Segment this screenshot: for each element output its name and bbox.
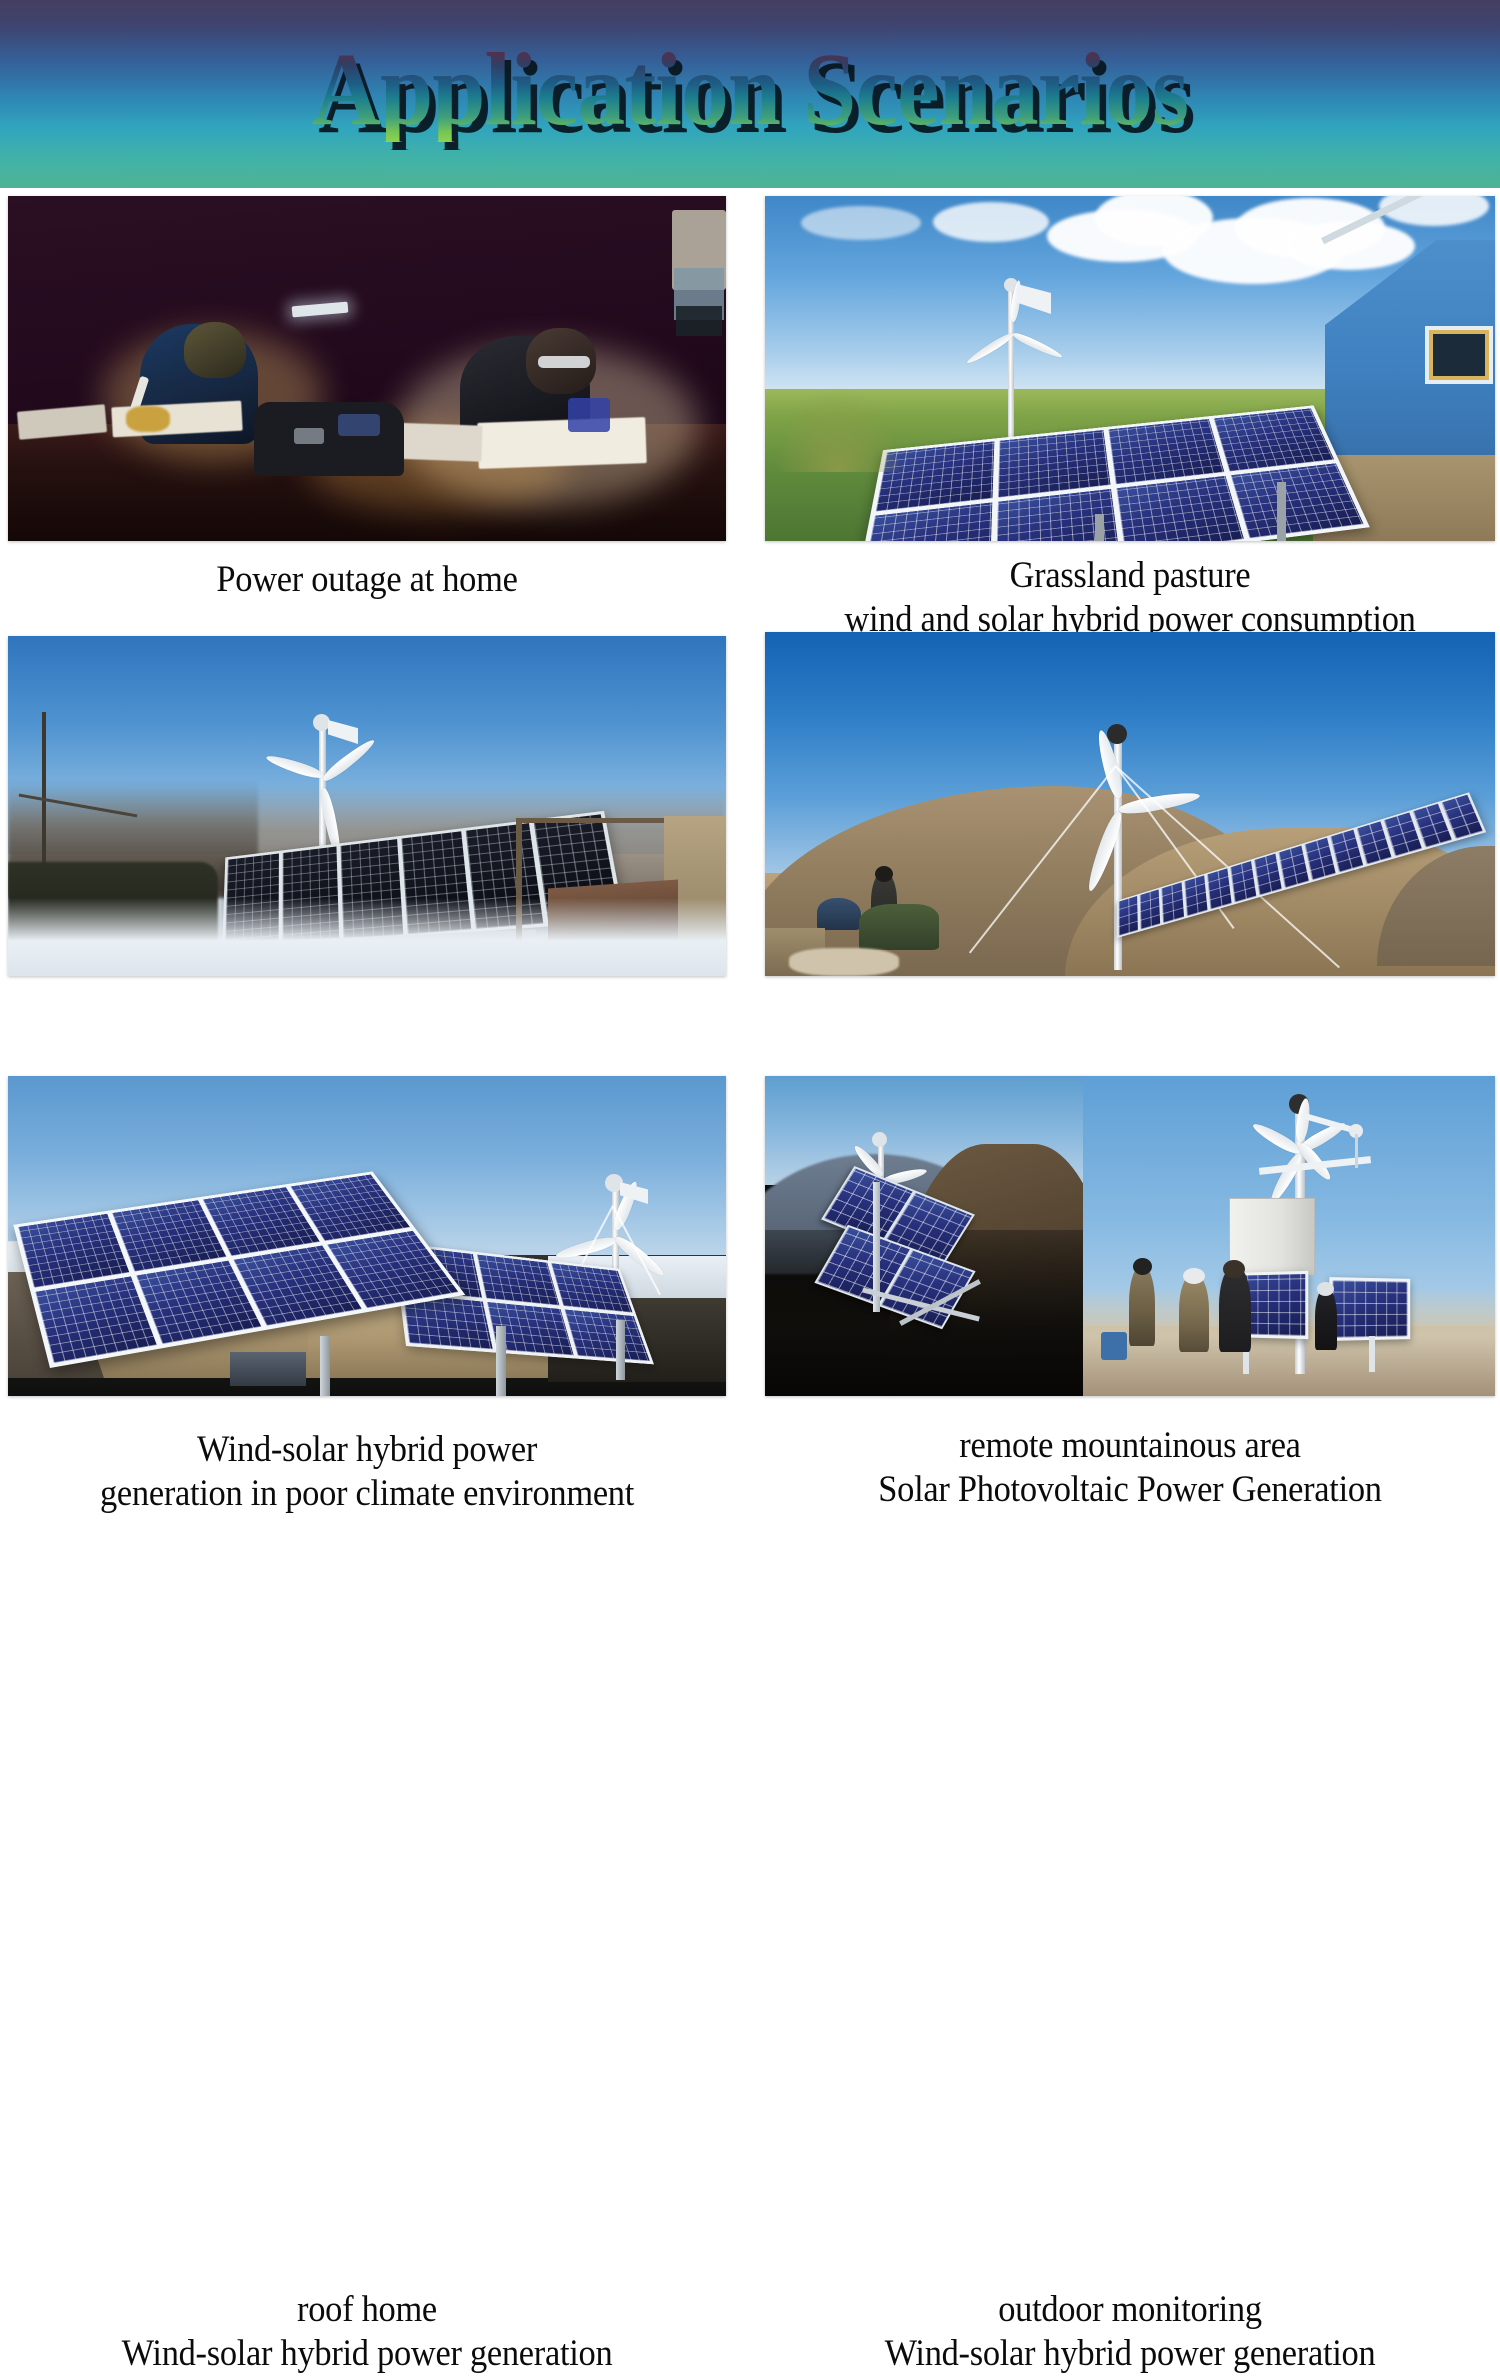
white-sack <box>789 948 899 976</box>
caption-power-outage: Power outage at home <box>33 558 701 602</box>
sensor-stem <box>1355 1134 1358 1168</box>
snow-foreground <box>8 898 726 976</box>
solar-module <box>1279 846 1309 888</box>
turbine-hub <box>313 714 330 731</box>
solar-module <box>35 1276 157 1363</box>
solar-module <box>1116 476 1244 541</box>
scenario-card-poor-climate[interactable]: Wind-solar hybrid power generation in po… <box>8 636 726 976</box>
person-dark-jacket <box>1219 1266 1251 1352</box>
person-head <box>1133 1258 1152 1275</box>
solar-module <box>1231 463 1364 538</box>
student-left-head <box>184 322 246 378</box>
backpack <box>254 402 404 476</box>
photo-roof-home <box>8 1076 726 1396</box>
array-support-leg <box>1277 482 1286 541</box>
scenario-card-outdoor-monitoring[interactable]: outdoor monitoring Wind-solar hybrid pow… <box>765 1076 1495 1396</box>
green-tarp <box>859 904 939 950</box>
cloud <box>801 206 921 240</box>
solar-module <box>1332 1280 1407 1338</box>
caption-line: Wind-solar hybrid power generation <box>33 2332 701 2376</box>
photo-grassland <box>765 196 1495 541</box>
caption-poor-climate: Wind-solar hybrid power generation in po… <box>33 1428 701 1516</box>
caption-line: remote mountainous area <box>791 1424 1470 1468</box>
caption-line: Power outage at home <box>33 558 701 602</box>
photo-poor-climate <box>8 636 726 976</box>
helmet-white <box>1317 1282 1334 1296</box>
solar-module <box>1207 868 1232 909</box>
worker-crouching <box>817 898 861 930</box>
subphoto-mountain-station <box>765 1076 1083 1396</box>
caption-line: outdoor monitoring <box>791 2288 1470 2332</box>
side-object-dark <box>676 306 722 336</box>
array-support-leg <box>1095 514 1104 541</box>
solar-module <box>1304 838 1335 881</box>
turbine-hub <box>1107 724 1127 744</box>
photo-remote-mountain <box>765 632 1495 976</box>
caption-remote-mountain: remote mountainous area Solar Photovolta… <box>791 1424 1470 1512</box>
scenario-card-grassland[interactable]: Grassland pasture wind and solar hybrid … <box>765 196 1495 541</box>
solar-module <box>1230 861 1256 903</box>
caption-line: Wind-solar hybrid power <box>33 1428 701 1472</box>
page-title: Application Scenarios <box>60 38 1440 142</box>
solar-module <box>477 1255 560 1306</box>
solar-module <box>565 1309 650 1361</box>
solar-module <box>1254 853 1282 895</box>
equipment-box <box>230 1352 306 1386</box>
bag-buckle <box>294 428 324 444</box>
caption-line: generation in poor climate environment <box>33 1472 701 1516</box>
solar-module <box>18 1214 129 1288</box>
scenario-card-power-outage[interactable]: Power outage at home <box>8 196 726 541</box>
person-behind-mast <box>1315 1288 1337 1350</box>
notebook-right <box>477 417 647 469</box>
person-head <box>1223 1260 1245 1278</box>
solar-module <box>1162 882 1184 923</box>
solar-module <box>1214 408 1335 471</box>
array-support-leg <box>320 1336 330 1396</box>
bag-patch <box>338 414 380 436</box>
photo-power-outage <box>8 196 726 541</box>
solar-module <box>998 430 1110 498</box>
scenario-card-remote-mountain[interactable]: remote mountainous area Solar Photovolta… <box>765 632 1495 976</box>
person-saluting <box>1129 1266 1155 1346</box>
solar-module <box>551 1263 632 1312</box>
array-support-leg <box>496 1326 506 1396</box>
worker-head <box>875 866 893 882</box>
solar-module <box>1184 875 1207 916</box>
blue-container <box>1101 1332 1127 1360</box>
tablet-screen <box>568 398 610 432</box>
hand-left <box>126 406 170 432</box>
caption-line: Wind-solar hybrid power generation <box>791 2332 1470 2376</box>
helmet-white <box>1183 1268 1205 1284</box>
tall-grass <box>773 386 903 472</box>
solar-module <box>1119 896 1138 936</box>
eyeglasses <box>538 356 590 368</box>
house-window <box>1429 330 1489 380</box>
caption-grassland: Grassland pasture wind and solar hybrid … <box>791 554 1470 642</box>
cloud <box>933 202 1049 242</box>
caption-outdoor-monitoring: outdoor monitoring Wind-solar hybrid pow… <box>791 2288 1470 2376</box>
caption-line: roof home <box>33 2288 701 2332</box>
person-bending <box>1179 1274 1209 1352</box>
solar-module <box>1108 419 1224 484</box>
scenario-card-roof-home[interactable]: roof home Wind-solar hybrid power genera… <box>8 1076 726 1396</box>
scenario-grid: Power outage at home <box>0 188 1500 1500</box>
page-header: Application Scenarios <box>0 0 1500 188</box>
caption-line: Grassland pasture <box>791 554 1470 598</box>
caption-line: Solar Photovoltaic Power Generation <box>791 1468 1470 1512</box>
subphoto-monitoring-mast <box>1083 1076 1495 1396</box>
caption-roof-home: roof home Wind-solar hybrid power genera… <box>33 2288 701 2376</box>
solar-module <box>1140 889 1161 929</box>
solar-panel-right <box>1329 1277 1410 1341</box>
array-support-leg <box>616 1320 625 1380</box>
turbine-hub <box>872 1132 887 1147</box>
photo-outdoor-monitoring <box>765 1076 1495 1396</box>
panel-leg <box>1369 1336 1375 1372</box>
